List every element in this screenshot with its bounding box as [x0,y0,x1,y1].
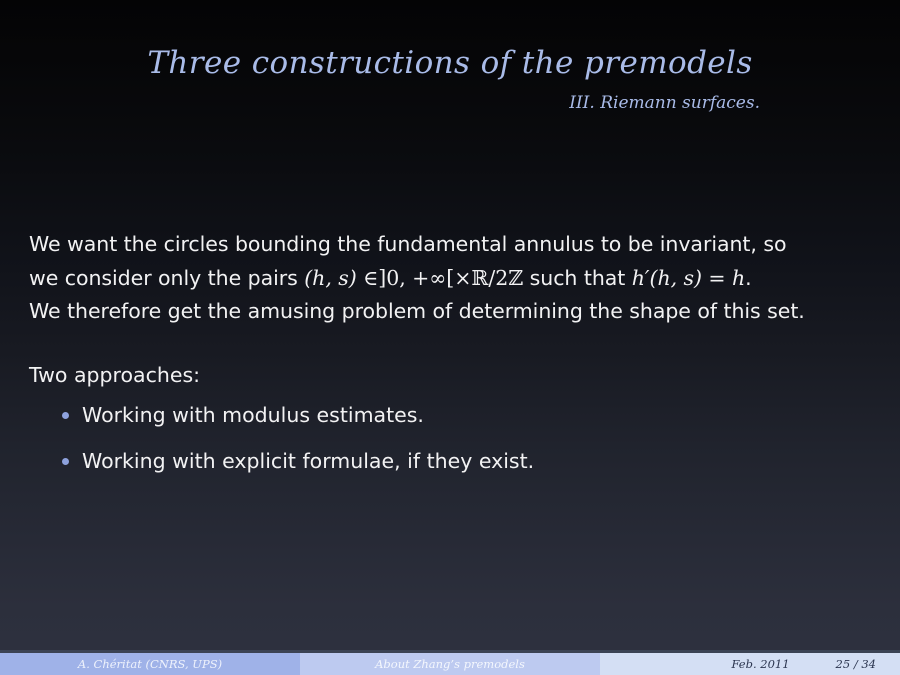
list-item-label: Working with explicit formulae, if they … [82,449,534,473]
footer-date-label: Feb. 2011 [731,657,789,671]
footer-bar: A. Chéritat (CNRS, UPS) About Zhang’s pr… [0,653,900,675]
footer-meta-segment: Feb. 2011 25 / 34 [600,653,900,675]
paragraph-line-2-period: . [745,266,751,290]
math-pair-hs: (h, s) [304,266,356,290]
page-title: Three constructions of the premodels [0,46,900,80]
paragraph-line-3: We therefore get the amusing problem of … [29,299,805,323]
slide-header: Three constructions of the premodels III… [0,46,900,113]
footer-page-number: 25 / 34 [836,657,876,671]
math-equation-h-prime: h′(h, s) = h [632,266,745,290]
math-blackboard-r: ℝ [471,266,488,290]
math-quotient-slash: /2 [488,266,508,290]
page-subtitle: III. Riemann surfaces. [0,93,900,113]
body-paragraph: We want the circles bounding the fundame… [29,228,877,329]
footer-author-label: A. Chéritat (CNRS, UPS) [78,657,222,671]
paragraph-line-2-prefix: we consider only the pairs [29,266,304,290]
paragraph-line-2-such-that: such that [523,266,632,290]
lead-in-text: Two approaches: [29,329,877,393]
math-blackboard-z: ℤ [508,266,523,290]
presentation-slide: Three constructions of the premodels III… [0,0,900,675]
approaches-list: Working with modulus estimates. Working … [29,392,877,473]
list-item: Working with explicit formulae, if they … [29,449,877,473]
math-interval: ∈]0, +∞[× [357,266,472,290]
list-item-label: Working with modulus estimates. [82,403,424,427]
footer-short-title-label: About Zhang’s premodels [375,657,525,671]
footer-title-segment: About Zhang’s premodels [300,653,600,675]
footer-author-segment: A. Chéritat (CNRS, UPS) [0,653,300,675]
bullet-dot-icon [62,458,69,465]
bullet-dot-icon [62,412,69,419]
list-item: Working with modulus estimates. [29,403,877,427]
slide-body: We want the circles bounding the fundame… [29,228,877,495]
paragraph-line-1: We want the circles bounding the fundame… [29,232,786,256]
